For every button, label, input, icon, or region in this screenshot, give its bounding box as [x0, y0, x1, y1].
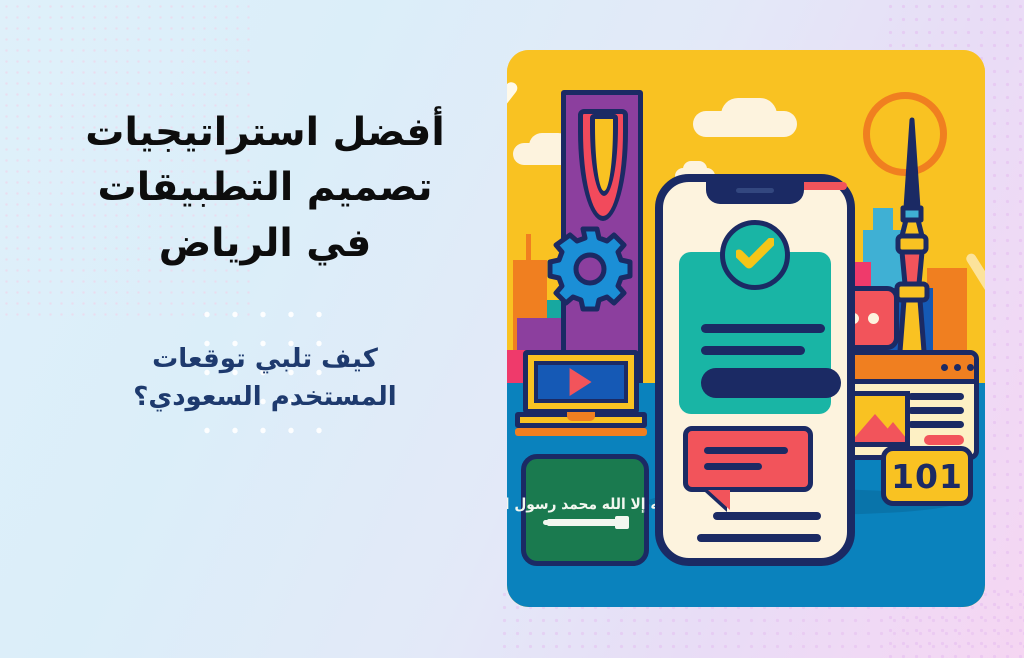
image-placeholder-icon [846, 391, 910, 447]
laptop-video-icon [515, 350, 647, 436]
phone-text-line [701, 324, 825, 333]
smartphone-mockup [655, 174, 855, 566]
play-icon [570, 368, 592, 396]
page-subtitle: كيف تلبي توقعات المستخدم السعودي؟ [85, 341, 445, 416]
check-circle-icon [720, 220, 790, 290]
phone-text-line [713, 512, 821, 520]
flag-sword [547, 519, 623, 526]
phone-content-card [679, 252, 831, 414]
gear-icon [547, 226, 633, 312]
browser-text-line [908, 407, 964, 414]
phone-text-line [701, 346, 805, 355]
browser-text-line [908, 393, 964, 400]
number-badge: 101 [881, 446, 973, 506]
message-bubble-icon [683, 426, 813, 492]
browser-cta-bar [924, 435, 964, 445]
saudi-flag-icon: لا إله إلا الله محمد رسول الله [521, 454, 649, 566]
cloud-icon [721, 98, 777, 132]
phone-button-pill [701, 368, 841, 398]
browser-title-bar [836, 355, 974, 384]
page-title: أفضل استراتيجيات تصميم التطبيقات في الري… [65, 105, 465, 271]
poster-canvas: أفضل استراتيجيات تصميم التطبيقات في الري… [0, 0, 1024, 658]
illustration-card: لا إله إلا الله محمد رسول الله 101 [507, 50, 985, 607]
browser-text-line [908, 421, 964, 428]
phone-notch [706, 180, 804, 204]
kingdom-tower-arch [578, 109, 628, 221]
text-column: أفضل استراتيجيات تصميم التطبيقات في الري… [40, 0, 490, 658]
phone-text-line [697, 534, 821, 542]
